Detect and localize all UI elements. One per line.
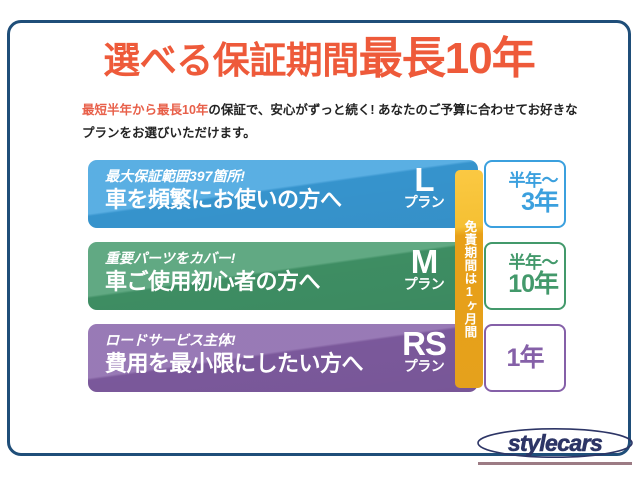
plan-letter: L	[382, 164, 466, 196]
plan-target: 車を頻繁にお使いの方へ	[105, 186, 342, 214]
duration-line-2: 10年	[508, 271, 558, 298]
headline-lead: 選べる保証期間	[103, 40, 359, 81]
deductible-period-band: 免責期間は1ヶ月間	[455, 170, 483, 388]
plan-word: プラン	[382, 359, 466, 374]
lead-highlight: 最短半年から最長10年	[82, 103, 208, 117]
duration-line-2: 1年	[507, 345, 544, 372]
plan-catch: 最大保証範囲397箇所!	[105, 169, 342, 184]
plan-mark: M プラン	[382, 246, 466, 293]
lead-paragraph: 最短半年から最長10年の保証で、安心がずっと続く! あなたのご予算に合わせてお好…	[82, 99, 580, 145]
plan-letter: RS	[382, 328, 466, 360]
plan-row[interactable]: ロードサービス主体! 費用を最小限にしたい方へ RS プラン 1年	[88, 324, 566, 392]
deductible-period-text: 免責期間は1ヶ月間	[462, 220, 477, 339]
plan-duration-box: 半年〜 10年	[484, 242, 566, 310]
plan-row[interactable]: 重要パーツをカバー! 車ご使用初心者の方へ M プラン 半年〜 10年	[88, 242, 566, 310]
stylecars-logo-icon: stylecars	[476, 427, 634, 461]
plan-target: 車ご使用初心者の方へ	[105, 268, 320, 296]
plan-copy: ロードサービス主体! 費用を最小限にしたい方へ	[105, 333, 363, 378]
plan-duration-box: 半年〜 3年	[484, 160, 566, 228]
plan-row[interactable]: 最大保証範囲397箇所! 車を頻繁にお使いの方へ L プラン 半年〜 3年	[88, 160, 566, 228]
headline-emphasis: 最長10年	[359, 34, 535, 83]
plan-bar-l[interactable]: 最大保証範囲397箇所! 車を頻繁にお使いの方へ L プラン	[88, 160, 478, 228]
plan-target: 費用を最小限にしたい方へ	[105, 350, 363, 378]
duration-line-1: 半年〜	[509, 172, 559, 190]
plan-word: プラン	[382, 277, 466, 292]
brand-logo: stylecars	[476, 427, 634, 471]
plan-word: プラン	[382, 195, 466, 210]
svg-text:stylecars: stylecars	[508, 430, 602, 456]
plan-letter: M	[382, 246, 466, 278]
page-title: 選べる保証期間最長10年	[10, 36, 628, 82]
plan-copy: 重要パーツをカバー! 車ご使用初心者の方へ	[105, 251, 320, 296]
plan-catch: 重要パーツをカバー!	[105, 251, 320, 266]
plan-bar-rs[interactable]: ロードサービス主体! 費用を最小限にしたい方へ RS プラン	[88, 324, 478, 392]
plan-mark: RS プラン	[382, 328, 466, 375]
plan-copy: 最大保証範囲397箇所! 車を頻繁にお使いの方へ	[105, 169, 342, 214]
duration-line-2: 3年	[521, 189, 558, 216]
duration-line-1: 半年〜	[509, 254, 559, 272]
plan-catch: ロードサービス主体!	[105, 333, 363, 348]
plan-bar-m[interactable]: 重要パーツをカバー! 車ご使用初心者の方へ M プラン	[88, 242, 478, 310]
plan-duration-box: 1年	[484, 324, 566, 392]
advertisement-frame: 選べる保証期間最長10年 最短半年から最長10年の保証で、安心がずっと続く! あ…	[7, 20, 631, 456]
logo-underline	[478, 462, 632, 465]
plan-mark: L プラン	[382, 164, 466, 211]
plan-list: 最大保証範囲397箇所! 車を頻繁にお使いの方へ L プラン 半年〜 3年 重要…	[88, 160, 566, 391]
